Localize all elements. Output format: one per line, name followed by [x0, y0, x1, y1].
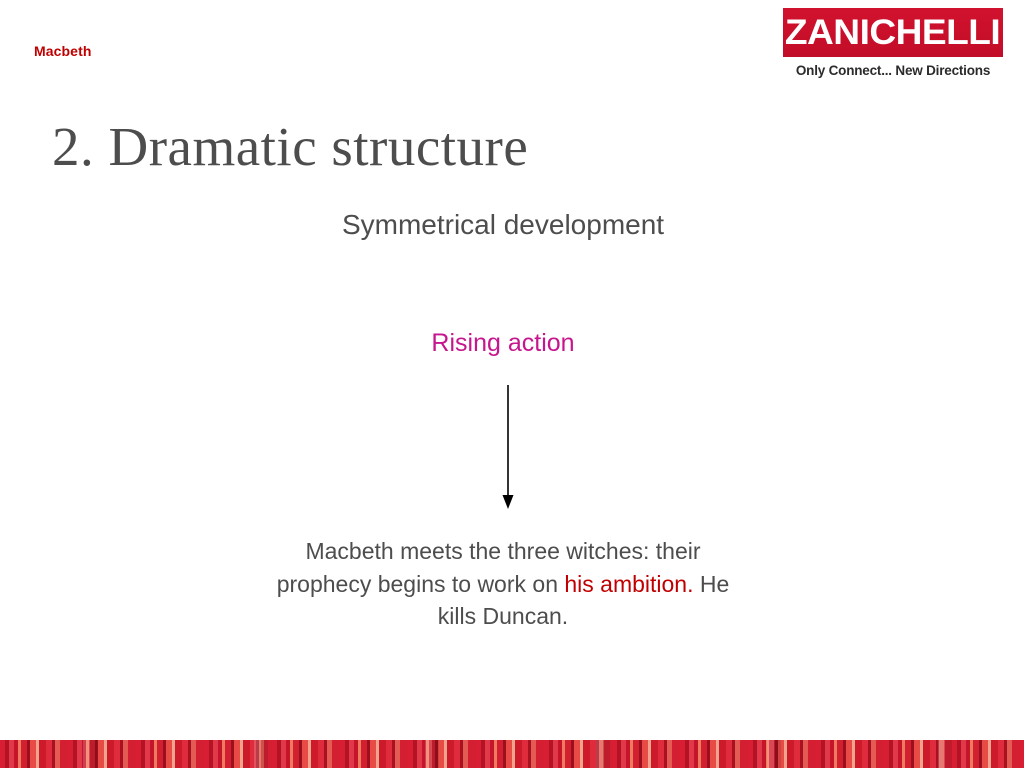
- logo-tagline: Only Connect... New Directions: [783, 63, 1003, 78]
- diagram-phase-label: Rising action: [0, 328, 1024, 358]
- publisher-logo: ZANICHELLI Only Connect... New Direction…: [783, 8, 1003, 78]
- logo-wordmark: ZANICHELLI: [785, 15, 1000, 50]
- diagram-stage-description: Macbeth meets the three witches: their p…: [0, 535, 1024, 633]
- page-title: 2. Dramatic structure: [52, 115, 528, 178]
- slide-kicker: Macbeth: [34, 44, 92, 58]
- footer-stripe-band-overlay: [0, 740, 1024, 768]
- slide-canvas: Macbeth 2. Dramatic structure ZANICHELLI…: [0, 0, 1024, 768]
- logo-box: ZANICHELLI: [783, 8, 1003, 57]
- section-subheading: Symmetrical development: [0, 208, 1024, 242]
- stage-description-highlight: his ambition.: [564, 571, 693, 597]
- flow-arrow-container: [483, 385, 533, 513]
- arrow-down-icon: [483, 385, 533, 513]
